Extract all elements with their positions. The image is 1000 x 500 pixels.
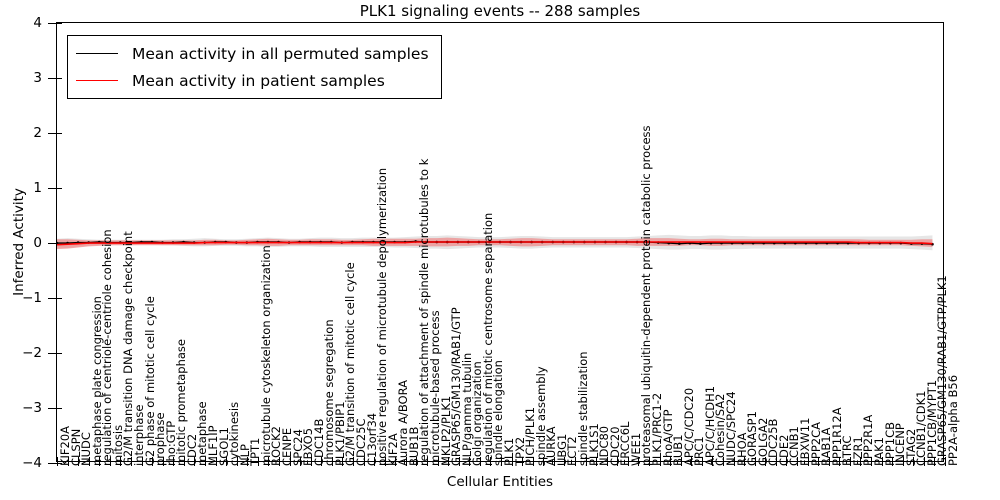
legend-item[interactable]: Mean activity in patient samples xyxy=(76,68,429,93)
y-tick-label: 2 xyxy=(33,125,42,141)
y-tick-label: 4 xyxy=(33,15,42,31)
y-tick xyxy=(48,408,57,409)
y-tick-label: −4 xyxy=(22,455,42,471)
y-tick xyxy=(48,133,57,134)
y-tick xyxy=(48,353,57,354)
y-tick xyxy=(48,23,57,24)
x-tick-label: positive regulation of microtubule depol… xyxy=(377,168,389,466)
y-tick xyxy=(48,298,57,299)
y-tick-label: 1 xyxy=(33,180,42,196)
x-axis-label: Cellular Entities xyxy=(0,474,1000,490)
y-tick-label: 0 xyxy=(33,235,42,251)
legend-label: Mean activity in patient samples xyxy=(132,72,385,90)
y-tick xyxy=(48,188,57,189)
y-tick xyxy=(48,78,57,79)
figure-canvas: PLK1 signaling events -- 288 samples Inf… xyxy=(0,0,1000,500)
y-tick-label: −3 xyxy=(22,400,42,416)
y-axis-label: Inferred Activity xyxy=(11,188,27,296)
legend-item[interactable]: Mean activity in all permuted samples xyxy=(76,41,429,66)
y-tick xyxy=(48,243,57,244)
y-tick xyxy=(48,463,57,464)
x-tick-label: PP2A-alpha B56 xyxy=(948,375,960,466)
y-tick-label: −1 xyxy=(22,290,42,306)
y-tick-label: −2 xyxy=(22,345,42,361)
y-tick-label: 3 xyxy=(33,70,42,86)
legend-line-icon xyxy=(76,53,118,54)
legend: Mean activity in all permuted samplesMea… xyxy=(67,35,442,99)
page-title: PLK1 signaling events -- 288 samples xyxy=(0,2,1000,20)
legend-label: Mean activity in all permuted samples xyxy=(132,45,429,63)
legend-line-icon xyxy=(76,80,118,81)
